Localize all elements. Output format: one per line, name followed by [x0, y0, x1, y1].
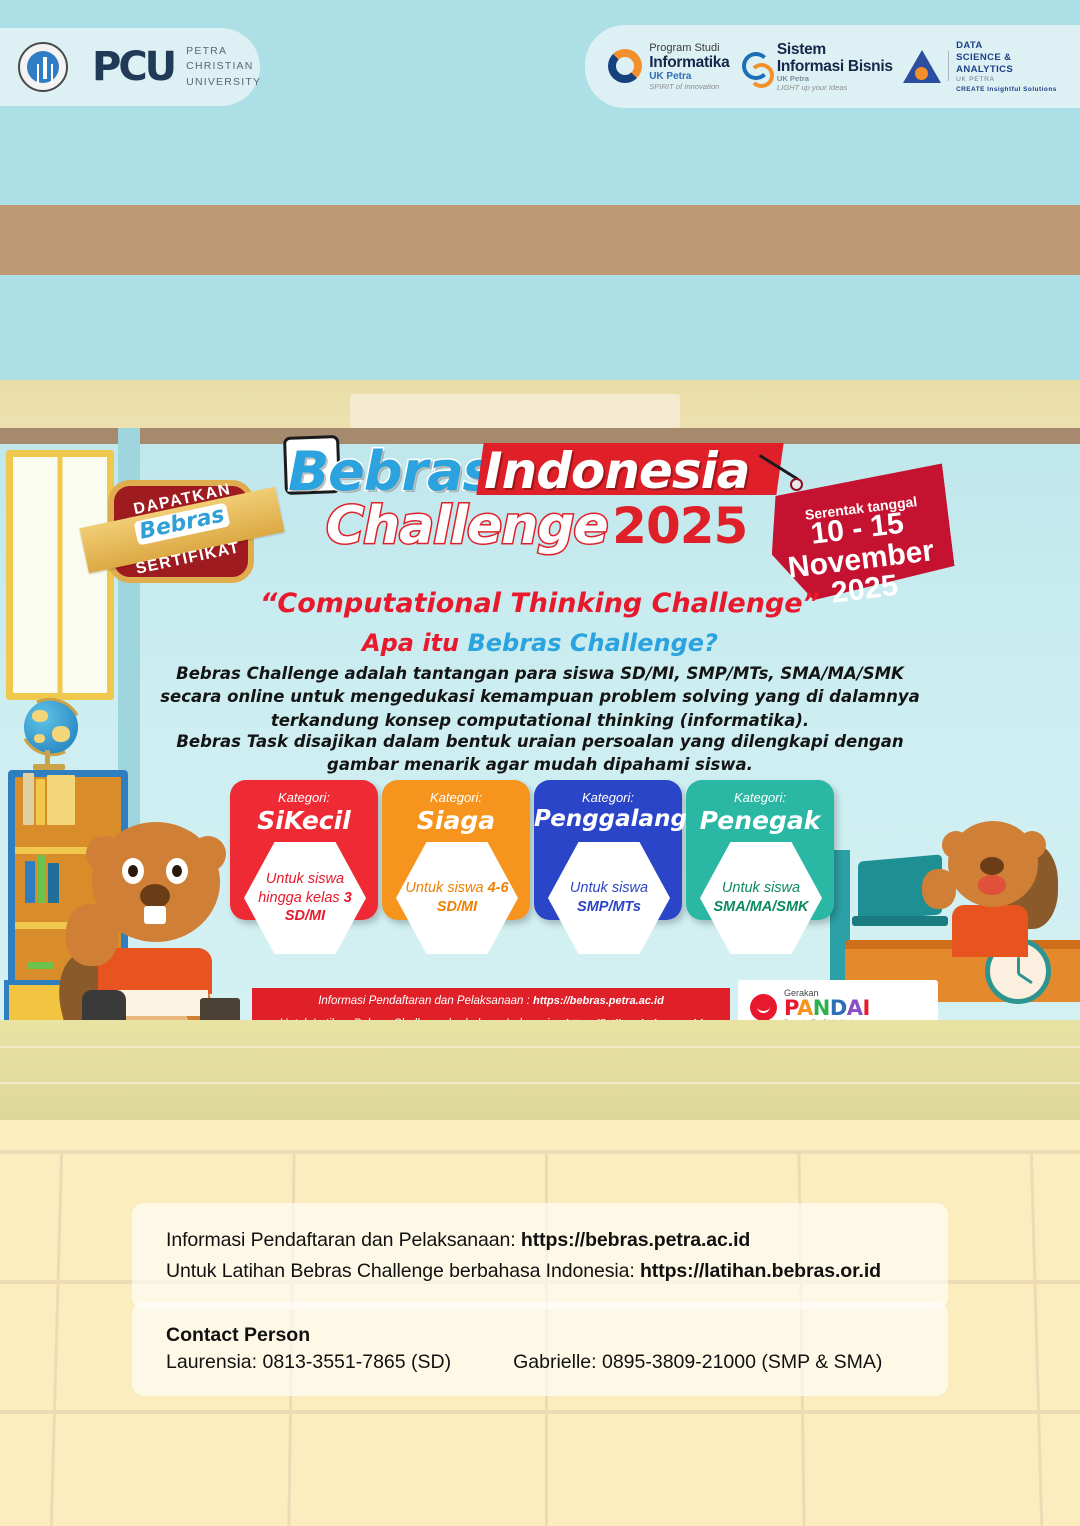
book [27, 962, 53, 969]
background-band-tan [0, 205, 1080, 275]
audience-plain: Untuk siswa [570, 880, 648, 896]
classroom-floor [0, 1020, 1080, 1120]
title-challenge: Challenge [326, 496, 608, 556]
info-line-2: Untuk Latihan Bebras Challenge berbahasa… [166, 1256, 914, 1287]
beaver-nose [980, 857, 1004, 875]
category-name: Siaga [382, 806, 530, 835]
pcu-logo-pill: PCU PETRA CHRISTIAN UNIVERSITY [0, 28, 260, 106]
beaver-shirt [952, 905, 1028, 957]
reg-line-1-plain: Informasi Pendaftaran dan Pelaksanaan : [318, 995, 533, 1007]
sib-line-1: Sistem [777, 41, 893, 58]
category-name: Penegak [686, 806, 834, 835]
book [37, 855, 46, 903]
sib-tagline: LIGHT up your Ideas [777, 84, 893, 93]
ceiling-light-panel [350, 394, 680, 428]
beaver-ear-left [942, 831, 970, 859]
info-line-1-url[interactable]: https://bebras.petra.ac.id [521, 1229, 750, 1251]
pcu-wordmark: PCU [92, 44, 174, 90]
beaver-ear-right [1018, 831, 1046, 859]
tile-grout-h [0, 1410, 1080, 1414]
partner-logos-pill: Program Studi Informatika UK Petra SPIRI… [585, 25, 1080, 108]
date-tag-hole [790, 478, 803, 491]
poster-tagline: “Computational Thinking Challenge” [0, 588, 1080, 619]
tile-grout-v [50, 1150, 63, 1526]
event-date-tag: Serentak tanggal 10 - 15 November 2025 [770, 474, 950, 594]
pandai-smiley-icon [750, 994, 777, 1021]
info-line-1: Informasi Pendaftaran dan Pelaksanaan: h… [166, 1225, 914, 1256]
book [25, 861, 35, 903]
beaver-waving-hand [66, 904, 118, 966]
category-audience: Untuk siswa hingga kelas 3 SD/MI [244, 870, 366, 926]
contact-person-row: Laurensia: 0813-3551-7865 (SD) Gabrielle… [166, 1351, 914, 1374]
pcu-name-line-1: PETRA [186, 44, 261, 59]
poster-paragraph-2: Bebras Task disajikan dalam bentuk uraia… [150, 730, 930, 777]
audience-bold: SMA/MA/SMK [713, 899, 808, 915]
pcu-name-line-2: CHRISTIAN [186, 59, 261, 74]
dsa-line-3: ANALYTICS [956, 64, 1057, 76]
info-line-2-plain: Untuk Latihan Bebras Challenge berbahasa… [166, 1260, 640, 1282]
contact-person-1: Laurensia: 0813-3551-7865 (SD) [166, 1351, 451, 1374]
title-bebras: Bebras [288, 440, 494, 503]
logo-informatika: Program Studi Informatika UK Petra SPIRI… [608, 42, 729, 91]
book [23, 773, 34, 825]
beaver-teeth [144, 906, 166, 924]
book [36, 779, 45, 825]
logo-sistem-informasi-bisnis: Sistem Informasi Bisnis UK Petra LIGHT u… [740, 41, 893, 93]
book [27, 970, 57, 977]
poster-reg-line-1: Informasi Pendaftaran dan Pelaksanaan : … [252, 988, 730, 1011]
pandai-name: PANDAI [784, 998, 871, 1019]
beaver-pupil-left [128, 865, 138, 877]
question-blue-part: Bebras Challenge? [467, 629, 718, 657]
contact-person-title: Contact Person [166, 1324, 914, 1347]
informatika-tagline: SPIRIT of Innovation [649, 83, 729, 92]
logo-data-science-analytics: DATA SCIENCE & ANALYTICS UK PETRA CREATE… [903, 40, 1057, 93]
informatika-line-1: Program Studi [649, 42, 729, 54]
dsa-divider [948, 51, 949, 81]
certificate-badge: DAPATKAN Bebras SERTIFIKAT [88, 480, 273, 585]
reg-line-1-url[interactable]: https://bebras.petra.ac.id [533, 995, 664, 1007]
category-audience: Untuk siswa 4-6 SD/MI [396, 879, 518, 916]
beaver-pupil-right [172, 865, 182, 877]
beaver-nose [140, 884, 170, 908]
question-red-part: Apa itu [362, 629, 467, 657]
dsa-sub: UK PETRA [956, 76, 1057, 83]
pcu-name-line-3: UNIVERSITY [186, 75, 261, 90]
info-line-1-plain: Informasi Pendaftaran dan Pelaksanaan: [166, 1229, 521, 1251]
beaver-ear-left [86, 836, 122, 872]
dsa-tagline: CREATE Insightful Solutions [956, 86, 1057, 93]
contact-person-2: Gabrielle: 0895-3809-21000 (SMP & SMA) [513, 1351, 882, 1374]
beaver-mascot-cheering [930, 795, 1060, 980]
audience-plain: Untuk siswa hingga kelas [258, 871, 344, 906]
informatika-ring-icon [608, 49, 642, 83]
category-name: SiKecil [230, 806, 378, 835]
beaver-raised-fist [922, 869, 956, 909]
beaver-shirt [98, 948, 212, 994]
petra-seal-icon [18, 42, 68, 92]
informatika-line-3: UK Petra [649, 71, 729, 82]
dsa-triangle-icon [903, 49, 941, 83]
poster-question: Apa itu Bebras Challenge? [0, 629, 1080, 657]
floor-line [0, 1082, 1080, 1084]
bebras-poster: DAPATKAN Bebras SERTIFIKAT Bebras Indone… [0, 380, 1080, 1120]
audience-plain: Untuk siswa [722, 880, 800, 896]
registration-info-card: Informasi Pendaftaran dan Pelaksanaan: h… [132, 1203, 948, 1309]
beaver-mouth [978, 875, 1006, 895]
audience-plain: Untuk siswa [405, 880, 487, 896]
pcu-full-name: PETRA CHRISTIAN UNIVERSITY [186, 44, 261, 90]
dsa-line-2: SCIENCE & [956, 52, 1057, 64]
sib-swirl-icon [740, 50, 770, 84]
sib-line-2: Informasi Bisnis [777, 58, 893, 75]
poster-paragraph-1: Bebras Challenge adalah tantangan para s… [150, 662, 930, 732]
category-audience: Untuk siswa SMP/MTs [548, 879, 670, 916]
poster-title: Bebras Indonesia Challenge 2025 [288, 440, 778, 554]
category-audience: Untuk siswa SMA/MA/SMK [700, 879, 822, 916]
title-year: 2025 [612, 497, 747, 555]
category-label: Kategori: [382, 790, 530, 805]
category-label: Kategori: [534, 790, 682, 805]
book [48, 863, 59, 903]
floor-line [0, 1046, 1080, 1048]
category-label: Kategori: [230, 790, 378, 805]
tile-grout-v [1030, 1150, 1043, 1526]
globe-ring [13, 690, 90, 764]
contact-person-card: Contact Person Laurensia: 0813-3551-7865… [132, 1302, 948, 1396]
dsa-line-1: DATA [956, 40, 1057, 52]
category-label: Kategori: [686, 790, 834, 805]
globe-icon [20, 698, 86, 770]
info-line-2-url[interactable]: https://latihan.bebras.or.id [640, 1260, 881, 1282]
audience-bold: SMP/MTs [577, 899, 641, 915]
informatika-line-2: Informatika [649, 54, 729, 71]
tile-grout-h [0, 1150, 1080, 1154]
beaver-ear-right [190, 836, 226, 872]
background-band-lower [0, 275, 1080, 380]
title-indonesia: Indonesia [484, 442, 750, 500]
category-name: Penggalang [534, 806, 682, 832]
category-cards: Kategori: SiKecil Untuk siswa hingga kel… [230, 780, 870, 955]
